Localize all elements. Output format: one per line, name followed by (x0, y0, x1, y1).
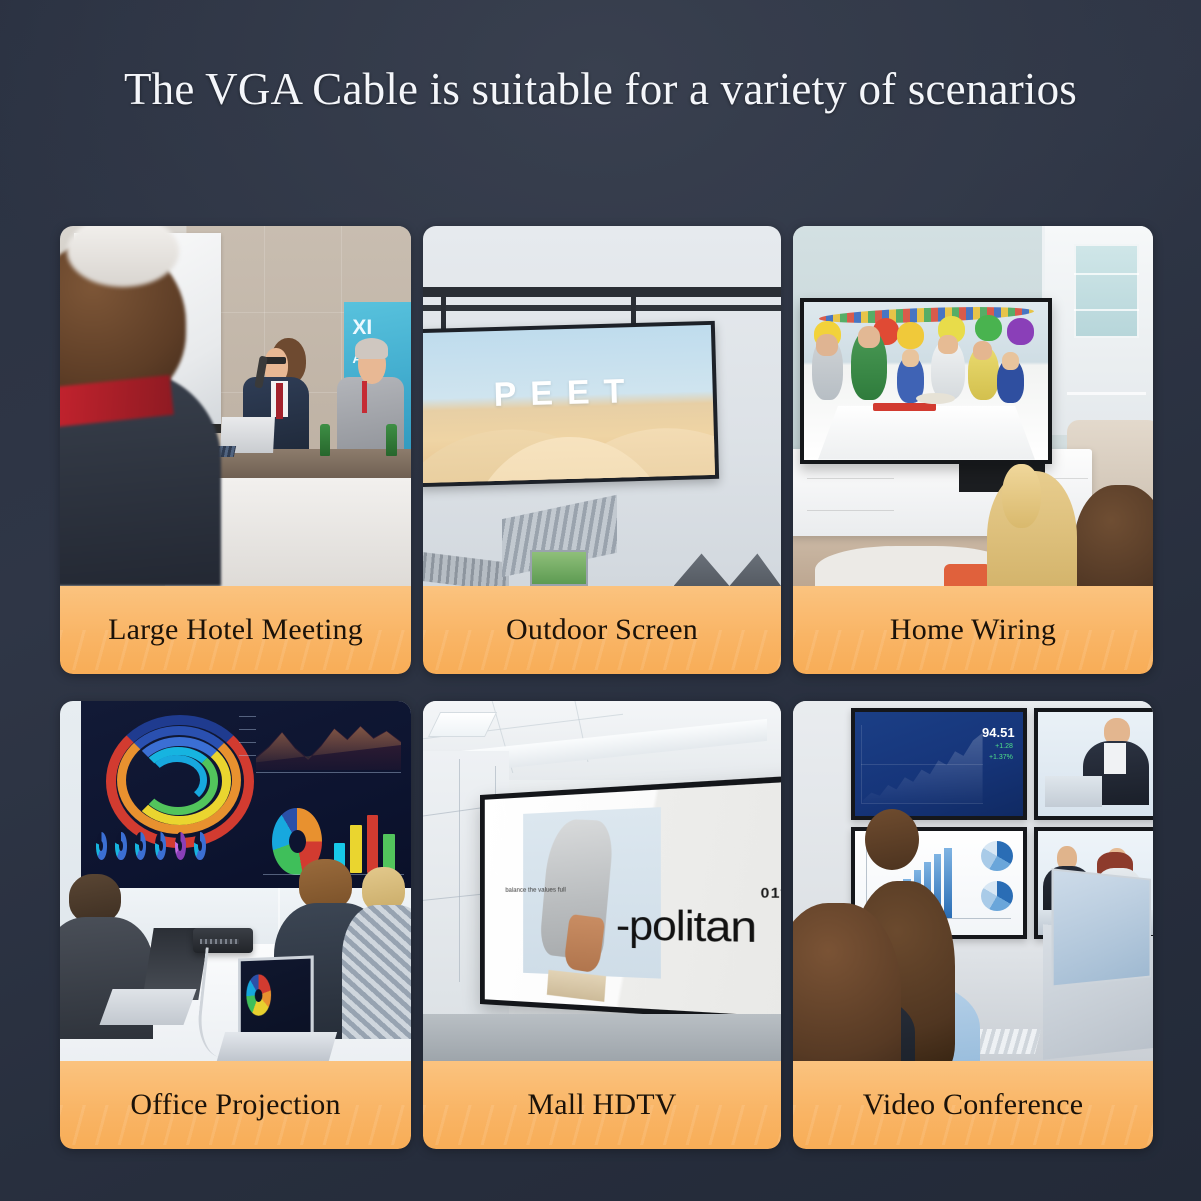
scenario-label-large-hotel-meeting: Large Hotel Meeting (108, 613, 363, 647)
scenario-photo-office-projection (60, 701, 411, 1061)
scenario-card-mall-hdtv[interactable]: balance the values full -politan 01 Mall… (423, 701, 781, 1149)
monitor-stock-chart: 94.51 +1.28 +1.37% (851, 708, 1027, 820)
page-title: The VGA Cable is suitable for a variety … (0, 63, 1201, 115)
living-room-tv (800, 298, 1052, 464)
scenario-label-video-conference: Video Conference (863, 1088, 1083, 1122)
scenario-photo-video-conference: 94.51 +1.28 +1.37% (793, 701, 1153, 1061)
signage-caption: balance the values full (506, 886, 567, 896)
scenario-label-band: Large Hotel Meeting (60, 586, 411, 674)
scenario-photo-large-hotel-meeting: XI ANN BUS CON (60, 226, 411, 586)
scenario-card-video-conference[interactable]: 94.51 +1.28 +1.37% (793, 701, 1153, 1149)
signage-headline: -politan (616, 903, 756, 953)
ticker-change: +1.28 (995, 743, 1013, 750)
scenario-card-outdoor-screen[interactable]: PEET Outdoor Screen (423, 226, 781, 674)
mall-signage-display: balance the values full -politan 01 (480, 772, 781, 1025)
scenario-label-outdoor-screen: Outdoor Screen (506, 613, 698, 647)
monitor-remote-participant-1 (1034, 708, 1153, 820)
scenario-photo-outdoor-screen: PEET (423, 226, 781, 586)
signage-number: 01 (761, 885, 781, 901)
ticker-percent: +1.37% (989, 754, 1013, 761)
scenario-label-mall-hdtv: Mall HDTV (527, 1088, 676, 1122)
scenario-label-band: Mall HDTV (423, 1061, 781, 1149)
billboard-screen-text: PEET (423, 370, 713, 417)
scenario-label-band: Office Projection (60, 1061, 411, 1149)
scenario-card-grid: XI ANN BUS CON (60, 226, 1145, 1149)
scenario-card-home-wiring[interactable]: Home Wiring (793, 226, 1153, 674)
scenario-photo-home-wiring (793, 226, 1153, 586)
scenario-label-band: Video Conference (793, 1061, 1153, 1149)
scenario-photo-mall-hdtv: balance the values full -politan 01 (423, 701, 781, 1061)
scenario-label-office-projection: Office Projection (130, 1088, 340, 1122)
scenario-label-band: Outdoor Screen (423, 586, 781, 674)
scenario-label-band: Home Wiring (793, 586, 1153, 674)
scenario-label-home-wiring: Home Wiring (890, 613, 1056, 647)
scenario-card-large-hotel-meeting[interactable]: XI ANN BUS CON (60, 226, 411, 674)
scenario-card-office-projection[interactable]: Office Projection (60, 701, 411, 1149)
poster-root: The VGA Cable is suitable for a variety … (0, 0, 1201, 1201)
ticker-value: 94.51 (982, 725, 1015, 740)
